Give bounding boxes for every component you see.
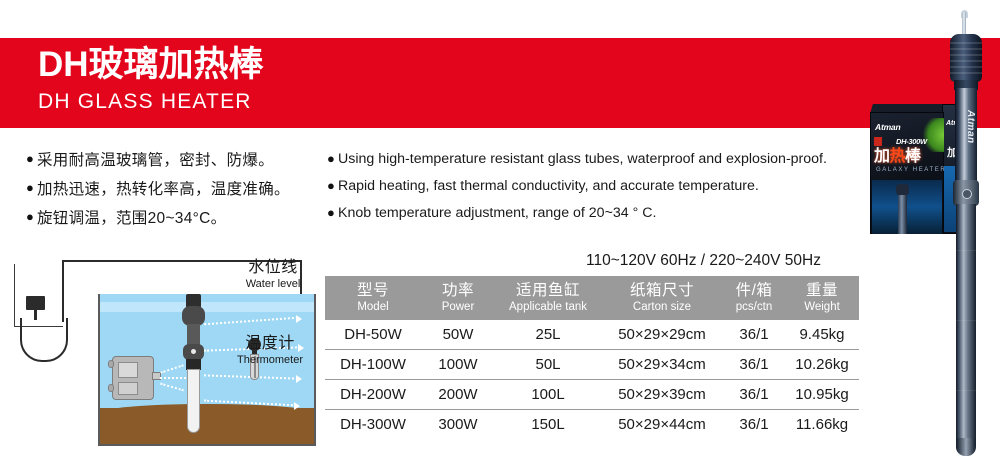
thermometer-label-en: Thermometer: [220, 353, 320, 367]
header-en: Model: [325, 300, 421, 314]
cell-weight: 9.45kg: [785, 320, 859, 350]
box-model-label: DH-300W: [896, 137, 927, 146]
cell-carton: 50×29×29cm: [601, 320, 723, 350]
header-en: Power: [421, 300, 495, 314]
cell-power: 300W: [421, 410, 495, 440]
features-english: ● Using high-temperature resistant glass…: [327, 148, 847, 229]
header-cn: 型号: [325, 281, 421, 300]
bullet-icon: ●: [26, 206, 37, 223]
rod-highlight: [956, 250, 976, 251]
specification-table: 型号 Model 功率 Power 适用鱼缸 Applicable tank 纸…: [325, 276, 859, 439]
thermometer-label-cn: 温度计: [220, 334, 320, 353]
cell-pcs: 36/1: [723, 380, 785, 410]
header-cn: 功率: [421, 281, 495, 300]
box-title-en: GALAXY HEATER: [876, 167, 946, 173]
table-row: DH-200W 200W 100L 50×29×39cm 36/1 10.95k…: [325, 380, 859, 410]
cell-tank: 150L: [495, 410, 601, 440]
pump-grill-upper: [118, 362, 138, 378]
cell-pcs: 36/1: [723, 320, 785, 350]
heater-body-upper: [187, 324, 200, 346]
cell-carton: 50×29×44cm: [601, 410, 723, 440]
cap-ridge: [950, 66, 982, 68]
column-header-model: 型号 Model: [325, 276, 421, 320]
bullet-icon: ●: [327, 148, 338, 165]
feature-item: ● 加热迅速，热转化率高，温度准确。: [26, 177, 326, 202]
cap-ridge: [950, 42, 982, 44]
column-header-pcs-per-carton: 件/箱 pcs/ctn: [723, 276, 785, 320]
cell-carton: 50×29×39cm: [601, 380, 723, 410]
feature-text: Using high-temperature resistant glass t…: [338, 148, 827, 171]
cell-weight: 11.66kg: [785, 410, 859, 440]
power-cable-loop: [20, 318, 68, 362]
voltage-rating: 110~120V 60Hz / 220~240V 50Hz: [586, 252, 821, 270]
header-banner: DH玻璃加热棒 DH GLASS HEATER: [0, 38, 1000, 128]
box-image-heater-cap: [896, 184, 909, 195]
header-en: Carton size: [601, 300, 723, 314]
flow-arrow-icon: [296, 315, 302, 323]
cap-ridge: [950, 48, 982, 50]
cell-power: 100W: [421, 350, 495, 380]
box-title-char-3: 棒: [905, 148, 921, 165]
flow-arrow-icon: [296, 375, 302, 383]
cap-ridge: [950, 72, 982, 74]
cell-tank: 50L: [495, 350, 601, 380]
cell-model: DH-200W: [325, 380, 421, 410]
box-red-accent: [874, 137, 882, 146]
cell-weight: 10.95kg: [785, 380, 859, 410]
feature-item: ● Rapid heating, fast thermal conductivi…: [327, 175, 847, 198]
cap-ridge: [950, 54, 982, 56]
heater-indicator-light: [191, 349, 196, 354]
feature-item: ● Using high-temperature resistant glass…: [327, 148, 847, 171]
bullet-icon: ●: [327, 175, 338, 192]
cell-carton: 50×29×34cm: [601, 350, 723, 380]
column-header-carton-size: 纸箱尺寸 Carton size: [601, 276, 723, 320]
flow-arrow-icon: [294, 402, 300, 410]
feature-item: ● 采用耐高温玻璃管，密封、防爆。: [26, 148, 326, 173]
box-title-char-2: 热: [890, 148, 906, 165]
water-level-label: 水位线 Water level: [230, 258, 316, 291]
cell-tank: 25L: [495, 320, 601, 350]
heater-glass-tube: [187, 369, 200, 433]
cell-tank: 100L: [495, 380, 601, 410]
heater-knob: [182, 306, 205, 326]
feature-text: 加热迅速，热转化率高，温度准确。: [37, 177, 290, 202]
column-header-power: 功率 Power: [421, 276, 495, 320]
cell-weight: 10.26kg: [785, 350, 859, 380]
cell-power: 50W: [421, 320, 495, 350]
water-level-label-en: Water level: [230, 277, 316, 291]
cell-model: DH-50W: [325, 320, 421, 350]
cell-pcs: 36/1: [723, 410, 785, 440]
rod-knob-indicator: [962, 189, 972, 199]
pump-jet: [160, 377, 186, 379]
table-row: DH-300W 300W 150L 50×29×44cm 36/1 11.66k…: [325, 410, 859, 440]
cell-power: 200W: [421, 380, 495, 410]
cap-ridge: [950, 60, 982, 62]
header-cn: 适用鱼缸: [495, 281, 601, 300]
page-title-en: DH GLASS HEATER: [38, 90, 252, 114]
rod-bottom-cap: [957, 438, 975, 456]
rod-glass-lower: [956, 204, 976, 456]
aquarium-installation-diagram: 水位线 Water level 温度计 Thermometer: [8, 256, 320, 448]
pump-grill-lower: [118, 382, 138, 395]
box-title-cn: 加热棒: [874, 148, 921, 165]
table-row: DH-50W 50W 25L 50×29×29cm 36/1 9.45kg: [325, 320, 859, 350]
thermometer-label: 温度计 Thermometer: [220, 334, 320, 367]
feature-text: Rapid heating, fast thermal conductivity…: [338, 175, 759, 198]
page-title-cn: DH玻璃加热棒: [38, 44, 264, 86]
water-surface: [100, 302, 314, 312]
cell-model: DH-100W: [325, 350, 421, 380]
bullet-icon: ●: [26, 148, 37, 165]
water-level-label-cn: 水位线: [230, 258, 316, 277]
power-cable-vertical: [62, 260, 64, 322]
feature-text: 旋钮调温，范围20~34°C。: [37, 206, 226, 231]
tank-substrate: [100, 408, 314, 444]
pump-mount-tab: [108, 360, 114, 368]
box-green-swoosh: [914, 118, 944, 152]
pump-mount-tab: [108, 384, 114, 392]
column-header-applicable-tank: 适用鱼缸 Applicable tank: [495, 276, 601, 320]
features-chinese: ● 采用耐高温玻璃管，密封、防爆。 ● 加热迅速，热转化率高，温度准确。 ● 旋…: [26, 148, 326, 235]
table-row: DH-100W 100W 50L 50×29×34cm 36/1 10.26kg: [325, 350, 859, 380]
cell-pcs: 36/1: [723, 350, 785, 380]
table-header-row: 型号 Model 功率 Power 适用鱼缸 Applicable tank 纸…: [325, 276, 859, 320]
header-cn: 件/箱: [723, 281, 785, 300]
header-en: pcs/ctn: [723, 300, 785, 314]
header-en: Applicable tank: [495, 300, 601, 314]
product-photo: Atman DH-300W 加热棒 GALAXY HEATER Atman 加热…: [858, 0, 1000, 468]
feature-text: Knob temperature adjustment, range of 20…: [338, 202, 656, 225]
rod-brand-logo: Atman: [956, 110, 976, 144]
feature-text: 采用耐高温玻璃管，密封、防爆。: [37, 148, 274, 173]
bullet-icon: ●: [26, 177, 37, 194]
feature-item: ● Knob temperature adjustment, range of …: [327, 202, 847, 225]
box-title-char-1: 加: [874, 148, 890, 165]
bullet-icon: ●: [327, 202, 338, 219]
box-brand-logo: Atman: [875, 122, 900, 132]
rod-highlight: [956, 320, 976, 321]
feature-item: ● 旋钮调温，范围20~34°C。: [26, 206, 326, 231]
cell-model: DH-300W: [325, 410, 421, 440]
header-en: Weight: [785, 300, 859, 314]
header-cn: 纸箱尺寸: [601, 281, 723, 300]
column-header-weight: 重量 Weight: [785, 276, 859, 320]
rod-highlight: [956, 390, 976, 391]
header-cn: 重量: [785, 281, 859, 300]
